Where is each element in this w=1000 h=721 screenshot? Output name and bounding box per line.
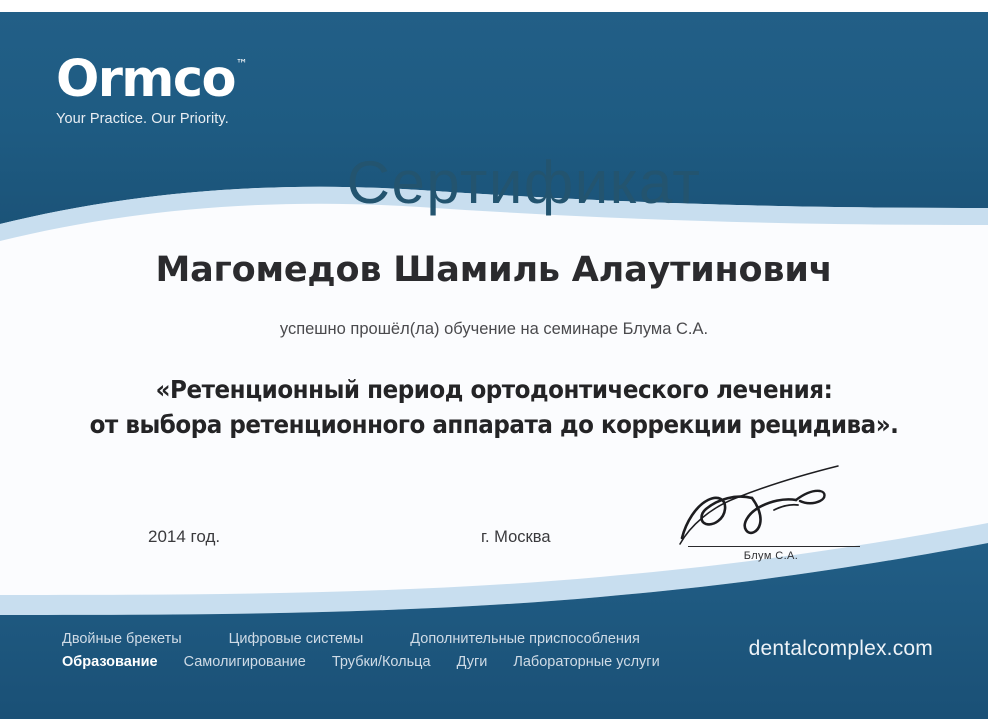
brand-wordmark-text: Ormco bbox=[56, 50, 235, 109]
footer-item-obrazovanie[interactable]: Образование bbox=[62, 654, 158, 670]
footer-navigation: Двойные брекеты Цифровые системы Дополни… bbox=[62, 631, 687, 670]
brand-wordmark: Ormco ™ bbox=[56, 54, 235, 105]
footer-item-dvoynye-brekety[interactable]: Двойные брекеты bbox=[62, 631, 182, 647]
issue-year: 2014 год. bbox=[148, 527, 220, 547]
certificate-sheet: Ormco ™ Your Practice. Our Priority. Сер… bbox=[0, 12, 988, 719]
course-title-line-1: «Ретенционный период ортодонтического ле… bbox=[30, 373, 959, 408]
page-title: Сертификат bbox=[0, 148, 988, 217]
course-title-line-2: от выбора ретенционного аппарата до корр… bbox=[30, 408, 959, 443]
recipient-name: Магомедов Шамиль Алаутинович bbox=[0, 250, 988, 290]
achievement-statement: успешно прошёл(ла) обучение на семинаре … bbox=[0, 320, 988, 339]
trademark-icon: ™ bbox=[236, 58, 248, 70]
footer-item-laboratornye-uslugi[interactable]: Лабораторные услуги bbox=[513, 654, 659, 670]
footer-item-dopolnitelnye-prisposobleniya[interactable]: Дополнительные приспособления bbox=[410, 631, 640, 647]
signature-rule bbox=[688, 546, 860, 547]
footer-row-2: Образование Самолигирование Трубки/Кольц… bbox=[62, 654, 687, 670]
website-link[interactable]: dentalcomplex.com bbox=[749, 637, 933, 661]
issue-city: г. Москва bbox=[481, 528, 551, 547]
course-title: «Ретенционный период ортодонтического ле… bbox=[0, 373, 988, 443]
signatory-name: Блум С.А. bbox=[676, 550, 866, 562]
footer-row-1: Двойные брекеты Цифровые системы Дополни… bbox=[62, 631, 687, 647]
certificate-page: Ormco ™ Your Practice. Our Priority. Сер… bbox=[0, 0, 1000, 721]
footer-item-samoligirovanie[interactable]: Самолигирование bbox=[184, 654, 306, 670]
footer-item-trubki-kolca[interactable]: Трубки/Кольца bbox=[332, 654, 431, 670]
brand-logo: Ormco ™ Your Practice. Our Priority. bbox=[56, 54, 386, 127]
footer-item-dugi[interactable]: Дуги bbox=[457, 654, 488, 670]
handwritten-signature-icon bbox=[670, 464, 870, 548]
brand-tagline: Your Practice. Our Priority. bbox=[56, 111, 386, 127]
footer-item-cifrovye-sistemy[interactable]: Цифровые системы bbox=[229, 631, 364, 647]
